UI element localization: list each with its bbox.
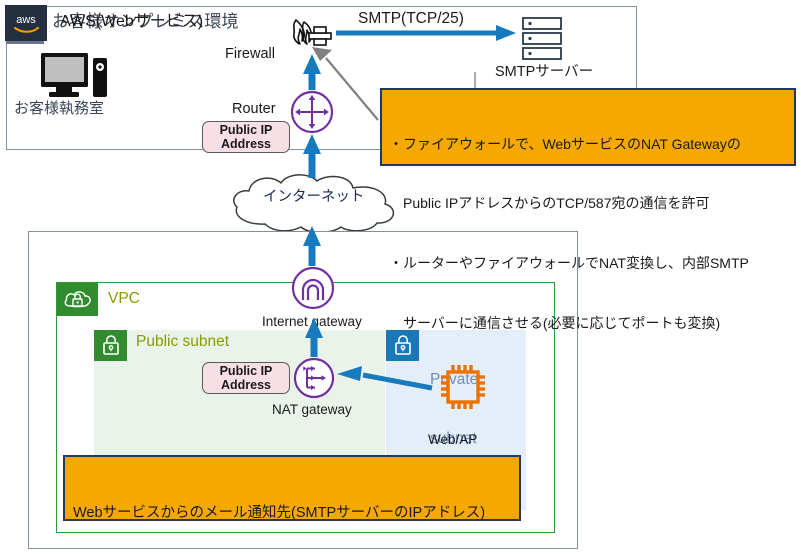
aws-logo: aws [5,5,47,41]
nat-gateway-icon [293,357,335,399]
callout-mail-notification: Webサービスからのメール通知先(SMTPサーバーのIPアドレス) にお客様内部… [63,455,521,521]
desktop-computer-icon [40,52,110,100]
callout-line: ・ファイアウォールで、WebサービスのNAT Gatewayの [389,135,787,155]
public-ip-line2: Address [221,137,271,151]
router-label: Router [232,101,276,118]
smtp-flow-label: SMTP(TCP/25) [358,10,464,28]
callout-line: Public IPアドレスからのTCP/587宛の通信を許可 [389,194,787,214]
smtp-server-label: SMTPサーバー [495,64,593,81]
router-public-ip-badge: Public IP Address [202,121,290,153]
callout-line: Webサービスからのメール通知先(SMTPサーバーのIPアドレス) [73,503,511,524]
callout-line: ・ルーターやファイアウォールでNAT変換し、内部SMTP [389,254,787,274]
vpc-cloud-lock-icon [57,283,98,316]
office-label: お客様執務室 [14,100,104,118]
svg-text:aws: aws [16,14,36,26]
public-ip-line2: Address [221,378,271,392]
aws-title: AWS(Webサービス) [60,13,203,32]
nat-public-ip-badge: Public IP Address [202,362,290,394]
firewall-label: Firewall [225,46,275,63]
server-rack-icon [517,16,567,64]
internet-gateway-icon [291,266,335,310]
nat-gateway-label: NAT gateway [272,402,352,418]
callout-firewall-rules: ・ファイアウォールで、WebサービスのNAT Gatewayの Public I… [380,88,796,166]
webap-label: Web/AP [428,432,477,448]
public-subnet-title: Public subnet [136,333,229,351]
internet-label: インターネット [263,189,365,206]
internet-gateway-label: Internet gateway [262,314,362,330]
callout-line: サーバーに通信させる(必要に応じてポートも変換) [389,314,787,334]
firewall-icon [286,16,336,58]
router-icon [290,90,334,134]
public-ip-line1: Public IP [220,123,273,137]
public-ip-line1: Public IP [220,364,273,378]
diagram-canvas: お客様オンプレミス環境 お客様執務室 Firewall [0,0,801,556]
vpc-title: VPC [108,290,140,308]
padlock-icon [94,330,127,361]
